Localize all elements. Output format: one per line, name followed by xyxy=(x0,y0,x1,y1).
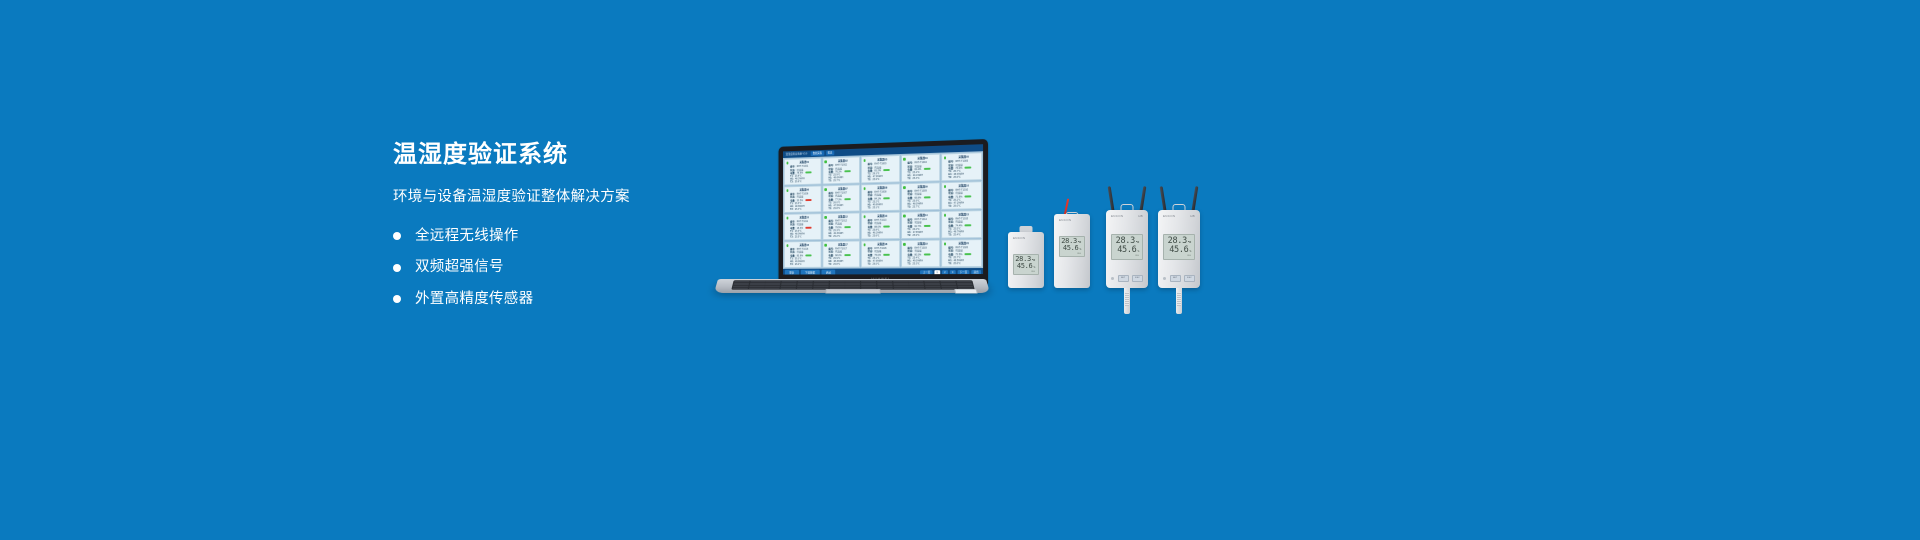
lcd-humidity-unit: % xyxy=(1137,250,1139,253)
battery-ok-indicator xyxy=(924,225,931,227)
sensor-card[interactable]: 采集器04编号:RHT-T1004状态:已连接电量:69.4%T1:25.4℃H… xyxy=(901,154,941,183)
sensor-card-title: 采集器13 xyxy=(868,215,898,219)
sensor-field-value: 25.4℃ xyxy=(795,208,802,211)
status-led-icon xyxy=(786,189,788,192)
menu-item-report[interactable]: 报表 xyxy=(826,151,834,156)
device-model: HB xyxy=(1190,214,1195,218)
lcd-humidity-unit: % xyxy=(1079,248,1081,251)
set-key[interactable]: SET xyxy=(1118,275,1129,282)
device-keypad: SET ESC xyxy=(1163,275,1195,282)
status-led-icon xyxy=(944,185,947,188)
keyboard-key[interactable] xyxy=(926,288,942,289)
sensor-field-label: T2: xyxy=(790,235,793,238)
battery-ok-indicator xyxy=(924,253,931,255)
sensor-field-value: 25.8℃ xyxy=(833,207,840,210)
device-brand: ENCON xyxy=(1059,218,1071,222)
laptop-spec-sticker xyxy=(954,289,978,294)
sensor-card-title: 采集器19 xyxy=(908,242,938,246)
sensor-field-value: 25.7℃ xyxy=(912,205,919,208)
sensor-card[interactable]: 采集器12编号:RHT-T1012状态:已连接电量:79.5%T1:25.3℃H… xyxy=(822,212,860,240)
device-brand: ENCON xyxy=(1111,214,1123,218)
laptop-keyboard[interactable] xyxy=(731,280,974,289)
hero-banner: 温湿度验证系统 环境与设备温湿度验证整体解决方案 全远程无线操作 双频超强信号 … xyxy=(0,0,1920,540)
sensor-field-value: 25.2℃ xyxy=(833,235,840,238)
status-led-icon xyxy=(1163,277,1166,280)
sensor-field-value: 25.3℃ xyxy=(912,262,919,265)
lcd-humidity-value: 45.6 xyxy=(1117,246,1136,255)
sensor-field-label: T2: xyxy=(828,263,831,266)
sensor-card-row: T2:25.6℃ xyxy=(790,180,818,184)
sensor-field-label: T2: xyxy=(908,177,912,180)
battery-ok-indicator xyxy=(844,226,850,228)
sensor-card[interactable]: 采集器07编号:RHT-T1007状态:已连接电量:77.3%T1:26.0℃H… xyxy=(822,184,860,212)
sensor-card[interactable]: 采集器17编号:RHT-T1017状态:已连接电量:68.2%T1:25.9℃H… xyxy=(822,240,860,267)
sensor-field-label: T2: xyxy=(828,235,831,238)
device-body: ENCON HB 28.3 ℃ 45.6 % RH SET xyxy=(1106,210,1148,288)
lcd-temperature-unit: ℃ xyxy=(1078,241,1081,244)
list-item: 双频超强信号 xyxy=(393,260,723,275)
status-led-icon xyxy=(786,162,788,165)
sensor-card-row: T2:25.3℃ xyxy=(908,176,938,180)
status-led-icon xyxy=(903,186,905,189)
sensor-card[interactable]: 采集器18编号:RHT-T1018状态:已连接电量:75.0%T1:26.1℃H… xyxy=(861,240,900,268)
lcd-temperature-unit: ℃ xyxy=(1032,259,1035,262)
laptop-trackpad[interactable] xyxy=(825,289,881,293)
device-lcd-display: 28.3 ℃ 45.6 % RH xyxy=(1059,236,1085,257)
device-brand-row: ENCON HB xyxy=(1106,214,1148,218)
sensor-card-title: 采集器17 xyxy=(828,243,857,247)
keyboard-key[interactable] xyxy=(732,288,748,289)
status-led-icon xyxy=(824,160,826,163)
battery-ok-indicator xyxy=(883,225,890,227)
feature-label: 全远程无线操作 xyxy=(415,229,519,244)
sensor-card-title: 采集器11 xyxy=(790,216,818,220)
list-item: 全远程无线操作 xyxy=(393,229,723,244)
sensor-field-value: 25.6℃ xyxy=(872,234,879,237)
sensor-card-row: T2:25.1℃ xyxy=(868,206,898,210)
page-subtitle: 环境与设备温湿度验证整体解决方案 xyxy=(393,188,723,207)
device-body: ENCON 28.3 ℃ 45.6 % RH xyxy=(1008,232,1044,288)
sensor-card-title: 采集器18 xyxy=(868,243,898,247)
status-led-icon xyxy=(824,244,826,247)
lcd-humidity-value: 45.6 xyxy=(1017,263,1033,270)
sensor-card-row: T2:25.7℃ xyxy=(828,179,857,183)
status-led-icon xyxy=(824,188,826,191)
device-brand: ENCON xyxy=(1163,214,1175,218)
sensor-field-label: T2: xyxy=(868,234,871,237)
sensor-field-value: 25.6℃ xyxy=(795,180,802,183)
laptop-base xyxy=(714,279,990,293)
status-led-icon xyxy=(903,243,905,246)
sensor-card-row: T2:25.5℃ xyxy=(790,235,818,238)
sensor-card[interactable]: 采集器09编号:RHT-T1009状态:已连接电量:66.8%T1:25.9℃H… xyxy=(901,182,941,210)
list-item: 外置高精度传感器 xyxy=(393,292,723,307)
sensor-field-label: T2: xyxy=(790,208,793,211)
status-led-icon xyxy=(786,217,788,220)
status-led-icon xyxy=(903,158,905,161)
lcd-temperature-unit: ℃ xyxy=(1136,241,1139,244)
feature-label: 外置高精度传感器 xyxy=(415,292,533,307)
status-led-icon xyxy=(944,214,947,217)
status-led-icon xyxy=(944,242,947,245)
laptop-screen: 温湿度验证系统 V3.0 数据采集 报表 采集器01编号:RHT-T1001状态… xyxy=(783,144,983,274)
device-lcd-display: 28.3 ℃ 45.6 % RH xyxy=(1163,234,1195,260)
lcd-humidity-row: 45.6 % xyxy=(1062,245,1081,252)
sensor-card[interactable]: 采集器16编号:RHT-T1016状态:已连接电量:83.6%T1:25.1℃H… xyxy=(784,241,821,268)
sensor-card-row: T2:25.6℃ xyxy=(948,262,979,265)
sensor-card-title: 采集器14 xyxy=(908,214,938,218)
sensor-card-title: 采集器15 xyxy=(948,213,979,217)
sensor-field-value: 26.0℃ xyxy=(953,204,960,207)
lcd-sub-label: RH xyxy=(1062,253,1081,255)
sensor-device-group: ENCON 28.3 ℃ 45.6 % RH xyxy=(1000,176,1240,316)
sensor-field-value: 25.9℃ xyxy=(912,234,919,237)
sensor-card-grid: 采集器01编号:RHT-T1001状态:已连接电量:78.6%T1:25.8℃H… xyxy=(783,151,983,269)
sensor-field-value: 25.8℃ xyxy=(833,263,840,266)
sensor-card-row: T2:25.3℃ xyxy=(908,262,938,265)
hero-copy-block: 温湿度验证系统 环境与设备温湿度验证整体解决方案 全远程无线操作 双频超强信号 … xyxy=(393,140,723,323)
sensor-field-value: 25.7℃ xyxy=(833,179,840,182)
sensor-field-value: 25.3℃ xyxy=(912,177,919,180)
device-lcd-display: 28.3 ℃ 45.6 % RH xyxy=(1013,254,1039,275)
sensor-field-value: 25.6℃ xyxy=(953,262,960,265)
sensor-field-label: T2: xyxy=(828,207,831,210)
sensor-field-value: 25.4℃ xyxy=(953,233,960,236)
status-led-icon xyxy=(863,215,865,218)
sensor-card[interactable]: 采集器11编号:RHT-T1011状态:已连接电量:18.4%T1:25.6℃H… xyxy=(784,213,821,240)
status-led-icon xyxy=(863,159,865,162)
sensor-card-row: T2:25.4℃ xyxy=(948,233,979,236)
sensor-card-title: 采集器20 xyxy=(948,242,979,246)
sensor-field-label: T2: xyxy=(790,180,793,183)
page-title: 温湿度验证系统 xyxy=(393,140,723,170)
device-brand-row: ENCON HB xyxy=(1158,214,1200,218)
laptop-lid: 温湿度验证系统 V3.0 数据采集 报表 采集器01编号:RHT-T1001状态… xyxy=(779,139,988,285)
status-led-icon xyxy=(863,243,865,246)
device-body: ENCON HB 28.3 ℃ 45.6 % RH SET xyxy=(1158,210,1200,288)
esc-key[interactable]: ESC xyxy=(1184,275,1195,282)
bottom-probe-icon xyxy=(1124,288,1130,314)
lcd-temperature-unit: ℃ xyxy=(1188,241,1191,244)
sensor-field-label: T2: xyxy=(868,206,871,209)
sensor-card-title: 采集器12 xyxy=(828,215,857,219)
sensor-card-row: T2:25.2℃ xyxy=(828,235,857,238)
status-led-icon xyxy=(944,156,947,159)
lcd-sub-label: RH xyxy=(1166,255,1191,257)
device-handheld-1: ENCON HB 28.3 ℃ 45.6 % RH SET xyxy=(1106,186,1148,288)
sensor-card[interactable]: 采集器01编号:RHT-T1001状态:已连接电量:78.6%T1:25.8℃H… xyxy=(784,158,821,186)
sensor-field-label: T2: xyxy=(868,262,871,265)
sensor-field-label: T2: xyxy=(948,205,952,208)
set-key[interactable]: SET xyxy=(1170,275,1181,282)
sensor-field-label: T2: xyxy=(908,262,912,265)
status-led-icon xyxy=(786,244,788,246)
sensor-card[interactable]: 采集器08编号:RHT-T1008状态:已连接电量:84.1%T1:25.2℃H… xyxy=(861,183,900,211)
bullet-dot-icon xyxy=(393,264,401,272)
sensor-card-row: T2:25.8℃ xyxy=(828,263,857,266)
sensor-card-row: T2:25.6℃ xyxy=(948,175,979,179)
sensor-card-row: T2:25.6℃ xyxy=(868,234,898,237)
sensor-card[interactable]: 采集器03编号:RHT-T1003状态:已连接电量:81.2%T1:26.1℃H… xyxy=(861,155,900,183)
laptop-product-image: 温湿度验证系统 V3.0 数据采集 报表 采集器01编号:RHT-T1001状态… xyxy=(718,139,988,299)
sensor-card[interactable]: 采集器13编号:RHT-T1013状态:已连接电量:88.0%T1:25.8℃H… xyxy=(861,212,900,240)
lcd-humidity-value: 45.6 xyxy=(1169,246,1188,255)
status-led-icon xyxy=(824,216,826,219)
keyboard-key[interactable] xyxy=(909,288,924,289)
status-led-icon xyxy=(1111,277,1114,280)
sensor-field-label: T2: xyxy=(948,233,952,236)
lcd-humidity-row: 45.6 % xyxy=(1016,263,1035,270)
keyboard-key[interactable] xyxy=(893,288,908,289)
sensor-card-row: T2:25.9℃ xyxy=(868,177,898,181)
lcd-sub-label: RH xyxy=(1114,255,1139,257)
sensor-field-label: T2: xyxy=(790,263,793,266)
device-lcd-display: 28.3 ℃ 45.6 % RH xyxy=(1111,234,1143,260)
lcd-humidity-row: 45.6 % xyxy=(1166,246,1191,255)
feature-list: 全远程无线操作 双频超强信号 外置高精度传感器 xyxy=(393,229,723,307)
sensor-field-value: 25.9℃ xyxy=(872,178,879,181)
sensor-card-row: T2:25.4℃ xyxy=(790,207,818,211)
bullet-dot-icon xyxy=(393,232,401,240)
battery-ok-indicator xyxy=(805,254,811,256)
sensor-card[interactable]: 采集器19编号:RHT-T1019状态:已连接电量:80.3%T1:25.4℃H… xyxy=(901,239,941,267)
sensor-card-row: T2:25.7℃ xyxy=(908,205,938,209)
monitoring-app: 温湿度验证系统 V3.0 数据采集 报表 采集器01编号:RHT-T1001状态… xyxy=(783,144,983,274)
sensor-field-value: 25.5℃ xyxy=(795,235,802,238)
device-brand-row: ENCON xyxy=(1008,236,1044,240)
lcd-humidity-row: 45.6 % xyxy=(1114,246,1139,255)
device-logger-small-2: ENCON 28.3 ℃ 45.6 % RH xyxy=(1054,200,1090,288)
sensor-card-row: T2:25.9℃ xyxy=(908,233,938,236)
device-logger-small-1: ENCON 28.3 ℃ 45.6 % RH xyxy=(1008,218,1044,288)
sensor-card-row: T2:25.8℃ xyxy=(828,207,857,211)
status-led-icon xyxy=(863,187,865,190)
sensor-card[interactable]: 采集器06编号:RHT-T1006状态:已连接电量:20.5%T1:25.5℃H… xyxy=(784,185,821,213)
sensor-field-label: T2: xyxy=(908,234,912,237)
sensor-field-value: 26.0℃ xyxy=(872,262,879,265)
lcd-humidity-unit: % xyxy=(1033,266,1035,269)
device-brand: ENCON xyxy=(1013,236,1025,240)
keyboard-key[interactable] xyxy=(797,288,812,289)
sensor-field-label: T2: xyxy=(908,205,912,208)
device-handheld-2: ENCON HB 28.3 ℃ 45.6 % RH SET xyxy=(1158,186,1200,288)
sensor-field-label: T2: xyxy=(948,262,952,265)
app-menu: 数据采集 报表 xyxy=(811,151,834,157)
sensor-card[interactable]: 采集器10编号:RHT-T1010状态:已连接电量:71.9%T1:26.2℃H… xyxy=(942,181,983,210)
sensor-field-value: 25.6℃ xyxy=(953,176,960,179)
menu-item-collect[interactable]: 数据采集 xyxy=(811,151,824,156)
lcd-humidity-value: 45.6 xyxy=(1063,245,1079,252)
lcd-humidity-unit: % xyxy=(1189,250,1191,253)
sensor-card[interactable]: 采集器02编号:RHT-T1002状态:已连接电量:76.1%T1:25.9℃H… xyxy=(822,156,860,184)
battery-low-indicator xyxy=(805,227,811,229)
device-brand-row: ENCON xyxy=(1054,218,1090,222)
sensor-card-row: T2:26.0℃ xyxy=(948,204,979,208)
bullet-dot-icon xyxy=(393,295,401,303)
sensor-field-label: T2: xyxy=(948,176,952,179)
keyboard-key[interactable] xyxy=(765,288,780,289)
battery-ok-indicator xyxy=(844,254,850,256)
bottom-probe-icon xyxy=(1176,288,1182,314)
device-keypad: SET ESC xyxy=(1111,275,1143,282)
sensor-card-title: 采集器16 xyxy=(790,244,818,248)
sensor-card-row: T2:25.0℃ xyxy=(790,263,818,266)
lcd-sub-label: RH xyxy=(1016,271,1035,273)
sensor-card[interactable]: 采集器20编号:RHT-T1020状态:已连接电量:72.5%T1:25.7℃H… xyxy=(942,239,983,267)
battery-ok-indicator xyxy=(965,253,972,255)
sensor-card[interactable]: 采集器15编号:RHT-T1015状态:已连接电量:74.4%T1:25.5℃H… xyxy=(942,210,983,238)
sensor-field-label: T2: xyxy=(868,178,871,181)
sensor-field-value: 25.0℃ xyxy=(795,263,802,266)
feature-label: 双频超强信号 xyxy=(415,260,504,275)
sensor-card[interactable]: 采集器05编号:RHT-T1005状态:已连接电量:73.0%T1:25.7℃H… xyxy=(942,152,983,181)
keyboard-key[interactable] xyxy=(781,288,796,289)
esc-key[interactable]: ESC xyxy=(1132,275,1143,282)
keyboard-key[interactable] xyxy=(748,288,764,289)
sensor-card[interactable]: 采集器14编号:RHT-T1014状态:已连接电量:62.7%T1:26.0℃H… xyxy=(901,211,941,239)
status-led-icon xyxy=(903,214,905,217)
device-model: HB xyxy=(1138,214,1143,218)
sensor-card-row: T2:26.0℃ xyxy=(868,262,898,265)
battery-ok-indicator xyxy=(883,254,890,256)
sensor-field-value: 25.1℃ xyxy=(872,206,879,209)
device-body: ENCON 28.3 ℃ 45.6 % RH xyxy=(1054,214,1090,288)
sensor-field-label: T2: xyxy=(828,179,831,182)
